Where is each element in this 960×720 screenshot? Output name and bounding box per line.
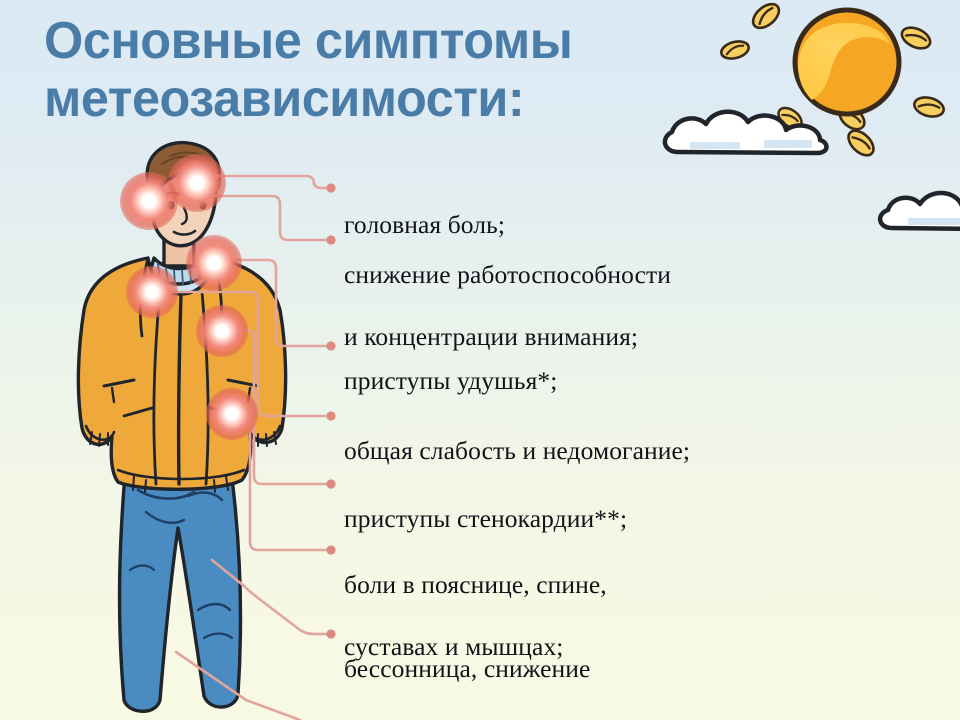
symptom-text: общая слабость и недомогание; [344,435,690,466]
sun-ray-icon [835,102,868,133]
symptom-text: приступы удушья*; [344,365,557,396]
pain-marker-abdomen [206,388,258,440]
symptom-text: бессонница, снижение [344,653,592,684]
sun-ray-icon [719,39,750,62]
title-line-1: Основные симптомы [44,12,684,70]
symptom-text: боли в пояснице, спине, [344,569,607,600]
cloud-icon-right [880,193,960,229]
sun-ray-icon [775,104,805,132]
sun-ray-icon [844,126,878,160]
poster-title: Основные симптомы метеозависимости: [44,12,704,128]
symptom-text-cont: эмоционального фона; [344,715,592,720]
symptom-item-insomnia: бессонница, снижение эмоционального фона… [344,622,592,720]
pain-marker-chest [196,305,248,357]
character-illustration [38,140,338,720]
sun-rays-group [719,0,945,160]
sun-ray-icon [899,24,934,53]
title-line-2: метеозависимости: [44,70,684,128]
pain-marker-throat [186,235,242,291]
infographic-poster: Основные симптомы метеозависимости: [0,0,960,720]
pain-marker-shoulder [126,266,178,318]
symptom-text: снижение работоспособности [344,259,671,290]
sun-ray-icon [749,0,784,33]
sun-icon [795,10,899,114]
symptom-text: приступы стенокардии**; [344,503,627,534]
pain-marker-temple [120,172,178,230]
sun-ray-icon [912,94,946,119]
